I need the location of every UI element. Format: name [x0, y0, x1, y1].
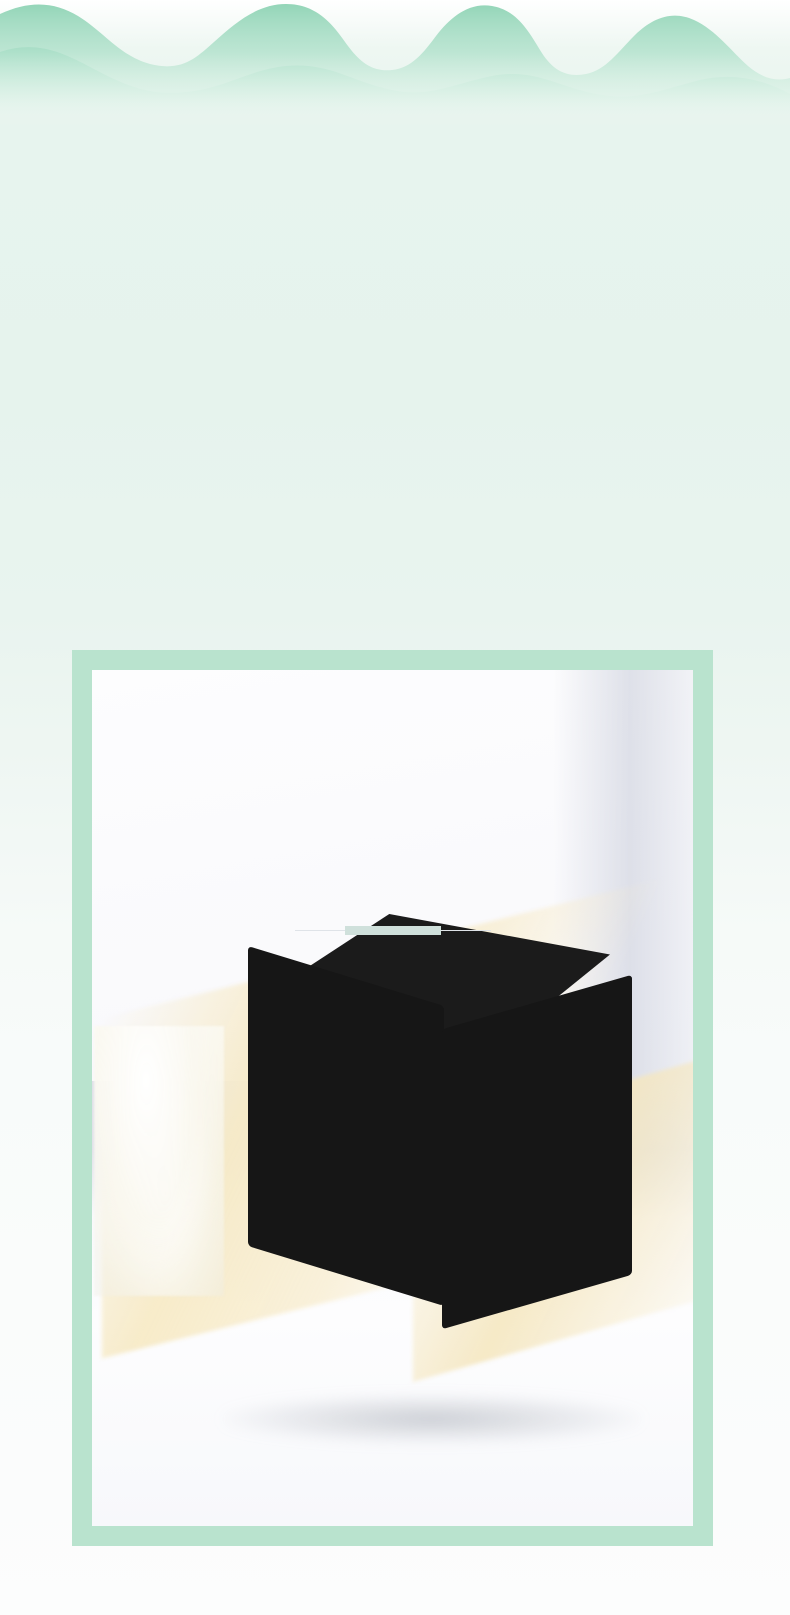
cube-right-face [442, 975, 632, 1329]
paper-prop [94, 1026, 224, 1296]
mountain-wave-band [0, 0, 790, 120]
cube-shadow [222, 1394, 642, 1444]
promo-page [0, 0, 790, 1615]
product-card [92, 670, 693, 1526]
ornament-divider [295, 926, 491, 936]
rubiks-cube [232, 914, 632, 1334]
product-card-frame [72, 650, 713, 1546]
divider-block [345, 926, 441, 935]
product-photo [92, 906, 693, 1526]
problem-word-cloud [0, 350, 790, 600]
cube-left-face [248, 946, 444, 1306]
